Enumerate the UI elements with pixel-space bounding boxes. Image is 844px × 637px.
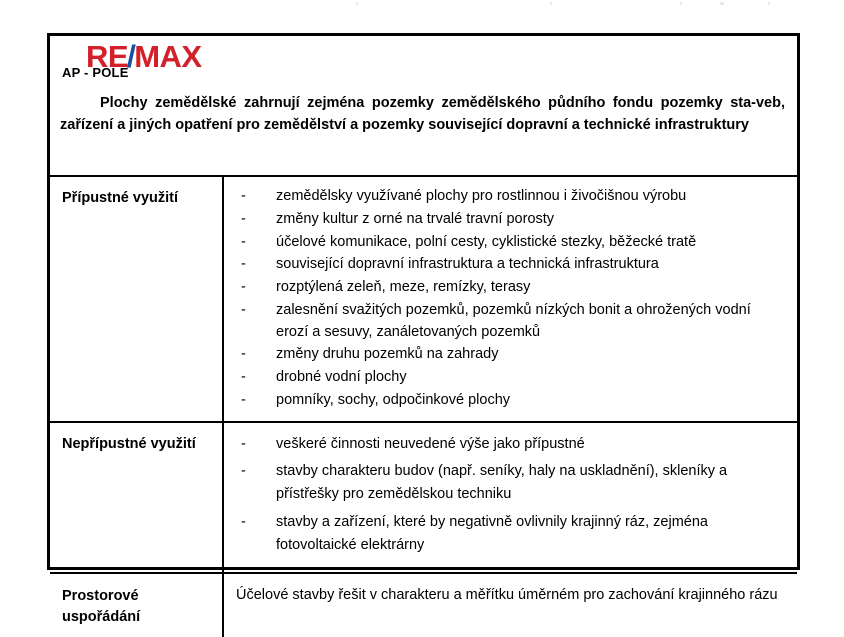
nepripustne-list: -veškeré činnosti neuvedené výše jako př… xyxy=(236,433,785,558)
dash-bullet: - xyxy=(241,460,246,483)
list-item-text: pomníky, sochy, odpočinkové plochy xyxy=(276,392,510,408)
remax-logo-max: MAX xyxy=(134,39,201,74)
list-item: -stavby a zařízení, které by negativně o… xyxy=(236,511,785,558)
list-item: -stavby charakteru budov (např. seníky, … xyxy=(236,460,785,507)
list-item: -účelové komunikace, polní cesty, cyklis… xyxy=(236,232,785,254)
zoning-regulation-table: RE/MAX AP - POLE Plochy zemědělské zahrn… xyxy=(47,33,800,570)
row-content-nepripustne-vyuziti: -veškeré činnosti neuvedené výše jako př… xyxy=(224,423,797,572)
table-row: Nepřípustné využití -veškeré činnosti ne… xyxy=(50,421,797,572)
table-row: Přípustné využití -zemědělsky využívané … xyxy=(50,175,797,421)
dash-bullet: - xyxy=(241,433,246,456)
dash-bullet: - xyxy=(241,511,246,534)
list-item: -rozptýlená zeleň, meze, remízky, terasy xyxy=(236,277,785,299)
list-item-text: veškeré činnosti neuvedené výše jako pří… xyxy=(276,436,585,452)
row-label-nepripustne-vyuziti: Nepřípustné využití xyxy=(50,423,224,572)
list-item-text: změny kultur z orné na trvalé travní por… xyxy=(276,211,554,227)
row-content-prostorove-usporadani: Účelové stavby řešit v charakteru a měří… xyxy=(224,574,797,637)
row-label-pripustne-vyuziti: Přípustné využití xyxy=(50,177,224,421)
table-row: Prostorové uspořádání Účelové stavby řeš… xyxy=(50,572,797,637)
zone-description-paragraph: Plochy zemědělské zahrnují zejména pozem… xyxy=(60,92,785,136)
list-item: -zalesnění svažitých pozemků, pozemků ní… xyxy=(236,300,785,344)
dash-bullet: - xyxy=(241,344,246,366)
row-content-pripustne-vyuziti: -zemědělsky využívané plochy pro rostlin… xyxy=(224,177,797,421)
list-item-text: drobné vodní plochy xyxy=(276,369,407,385)
dash-bullet: - xyxy=(241,390,246,412)
dash-bullet: - xyxy=(241,367,246,389)
list-item: -veškeré činnosti neuvedené výše jako př… xyxy=(236,433,785,456)
dash-bullet: - xyxy=(241,277,246,299)
list-item: -změny druhu pozemků na zahrady xyxy=(236,344,785,366)
row-label-prostorove-usporadani: Prostorové uspořádání xyxy=(50,574,224,637)
pripustne-list: -zemědělsky využívané plochy pro rostlin… xyxy=(236,186,785,412)
dash-bullet: - xyxy=(241,232,246,254)
list-item-text: změny druhu pozemků na zahrady xyxy=(276,346,498,362)
zone-code-label: AP - POLE xyxy=(62,65,129,80)
table-header-row: RE/MAX AP - POLE Plochy zemědělské zahrn… xyxy=(50,36,797,175)
dash-bullet: - xyxy=(241,209,246,231)
scan-artifact xyxy=(350,2,770,5)
list-item: -změny kultur z orné na trvalé travní po… xyxy=(236,209,785,231)
list-item-text: zemědělsky využívané plochy pro rostlinn… xyxy=(276,188,686,204)
list-item: -drobné vodní plochy xyxy=(236,367,785,389)
list-item-text: účelové komunikace, polní cesty, cyklist… xyxy=(276,234,696,250)
list-item-text: stavby a zařízení, které by negativně ov… xyxy=(276,514,708,553)
list-item-text: související dopravní infrastruktura a te… xyxy=(276,256,659,272)
dash-bullet: - xyxy=(241,186,246,208)
list-item: -zemědělsky využívané plochy pro rostlin… xyxy=(236,186,785,208)
dash-bullet: - xyxy=(241,254,246,276)
list-item-text: rozptýlená zeleň, meze, remízky, terasy xyxy=(276,279,530,295)
prostorove-usporadani-text: Účelové stavby řešit v charakteru a měří… xyxy=(236,585,785,607)
list-item: -pomníky, sochy, odpočinkové plochy xyxy=(236,390,785,412)
list-item-text: stavby charakteru budov (např. seníky, h… xyxy=(276,463,727,502)
list-item: -související dopravní infrastruktura a t… xyxy=(236,254,785,276)
list-item-text: zalesnění svažitých pozemků, pozemků níz… xyxy=(276,302,751,340)
dash-bullet: - xyxy=(241,300,246,322)
